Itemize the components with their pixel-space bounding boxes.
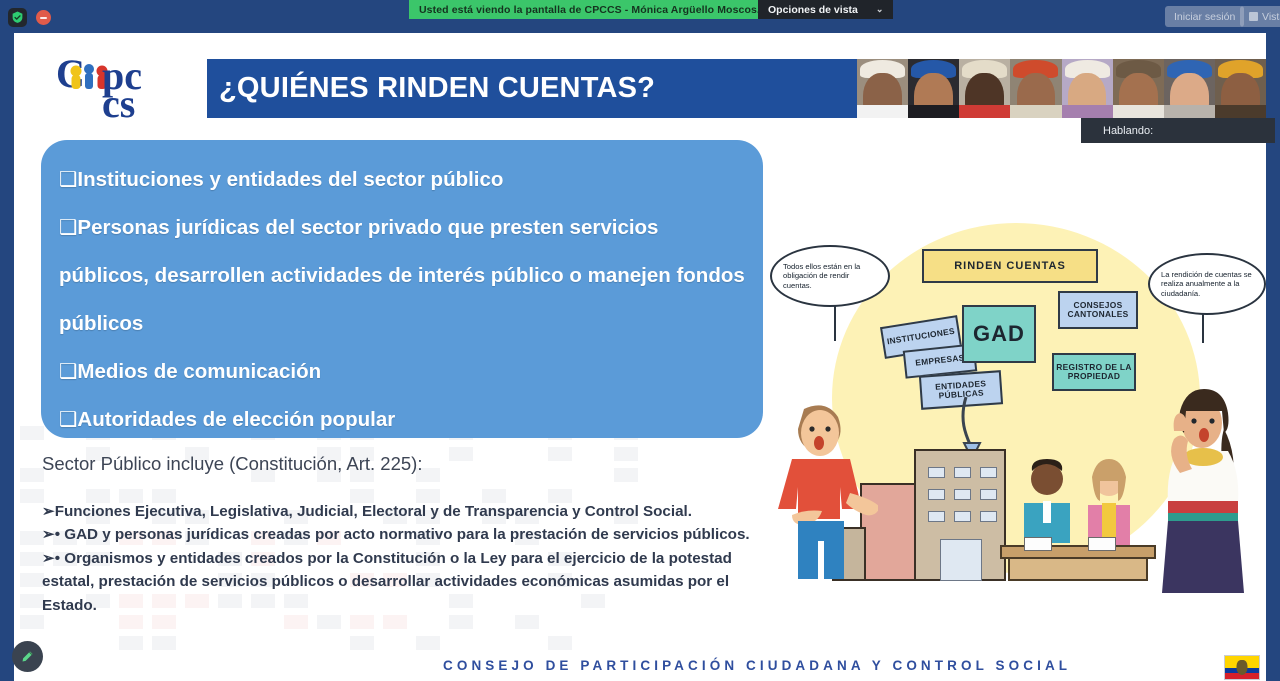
speech-bubble-right-text: La rendición de cuentas se realiza anual… <box>1161 270 1253 299</box>
rinden-cuentas-banner: RINDEN CUENTAS <box>922 249 1098 283</box>
bullet-marker: ❑ <box>59 216 77 239</box>
chevron-down-icon: ⌄ <box>876 4 884 15</box>
callout-bullet-text: Personas jurídicas del sector privado qu… <box>59 216 745 335</box>
person-indigenous-woman <box>1150 389 1260 595</box>
view-button-label: Vista <box>1262 11 1280 23</box>
body-paragraph: ➢• Organismos y entidades creados por la… <box>42 547 754 617</box>
portrait-photo <box>1010 59 1061 118</box>
security-shield-icon[interactable] <box>8 8 27 27</box>
portrait-photo <box>1164 59 1215 118</box>
bullet-marker: ❑ <box>59 168 77 191</box>
speech-bubble-right-tail <box>1202 313 1204 343</box>
card-registro-propiedad: REGISTRO DE LA PROPIEDAD <box>1052 353 1136 391</box>
bullet-marker: ❑ <box>59 408 77 431</box>
ecuador-flag-icon <box>1224 655 1260 680</box>
speech-bubble-left-text: Todos ellos están en la obligación de re… <box>783 262 877 291</box>
svg-text:cs: cs <box>102 81 135 121</box>
body-text-block: ➢Funciones Ejecutiva, Legislativa, Judic… <box>42 500 754 617</box>
callout-bullet-4: ❑Autoridades de elección popular <box>59 396 745 444</box>
callout-box: ❑Instituciones y entidades del sector pú… <box>41 140 763 438</box>
speaking-indicator: Hablando: <box>1081 118 1275 143</box>
callout-bullet-3: ❑Medios de comunicación <box>59 348 745 396</box>
presentation-slide: C pc cs ¿QUIÉNES RINDEN CUENTAS? <box>14 33 1266 681</box>
portrait-photo <box>908 59 959 118</box>
zoom-share-toolbar: Usted está viendo la pantalla de CPCCS -… <box>0 0 1280 20</box>
callout-bullet-2: ❑Personas jurídicas del sector privado q… <box>59 204 745 348</box>
footer-text: CONSEJO DE PARTICIPACIÓN CIUDADANA Y CON… <box>443 658 1071 673</box>
officials-table-leg <box>1008 559 1148 581</box>
card-gad: GAD <box>962 305 1036 363</box>
callout-bullet-text: Instituciones y entidades del sector púb… <box>77 168 503 191</box>
pencil-annotate-icon <box>20 649 35 664</box>
building-window <box>954 489 971 500</box>
speech-bubble-left: Todos ellos están en la obligación de re… <box>770 245 890 307</box>
grid-view-icon <box>1249 12 1258 21</box>
building-window <box>980 489 997 500</box>
accountability-illustration: RINDEN CUENTAS Todos ellos están en la o… <box>762 201 1266 621</box>
portrait-photo <box>857 59 908 118</box>
slide-title-bar: ¿QUIÉNES RINDEN CUENTAS? <box>207 59 857 118</box>
paper-sheet <box>1088 537 1116 551</box>
callout-bullet-text: Medios de comunicación <box>77 360 321 383</box>
card-consejos-cantonales: CONSEJOS CANTONALES <box>1058 291 1138 329</box>
portrait-photo <box>1062 59 1113 118</box>
building-window <box>928 467 945 478</box>
view-options-label: Opciones de vista <box>768 4 858 16</box>
sign-in-button[interactable]: Iniciar sesión <box>1165 6 1244 27</box>
portrait-photo <box>959 59 1010 118</box>
building-window <box>928 511 945 522</box>
screen-root: C pc cs ¿QUIÉNES RINDEN CUENTAS? <box>0 0 1280 681</box>
stop-share-icon[interactable] <box>36 10 51 25</box>
callout-bullet-text: Autoridades de elección popular <box>77 408 395 431</box>
slide-footer: CONSEJO DE PARTICIPACIÓN CIUDADANA Y CON… <box>431 653 1266 681</box>
speech-bubble-right: La rendición de cuentas se realiza anual… <box>1148 253 1266 315</box>
building-window <box>954 511 971 522</box>
person-pointing <box>768 397 878 589</box>
building-window <box>928 489 945 500</box>
building-door <box>940 539 982 581</box>
header-photo-strip <box>857 59 1266 118</box>
body-paragraph: ➢• GAD y personas jurídicas creadas por … <box>42 523 754 546</box>
building-window <box>980 467 997 478</box>
cpccs-logo: C pc cs <box>54 49 194 121</box>
annotate-button[interactable] <box>12 641 43 672</box>
view-button[interactable]: Vista <box>1240 6 1280 27</box>
callout-bullet-1: ❑Instituciones y entidades del sector pú… <box>59 156 745 204</box>
building-window <box>980 511 997 522</box>
view-options-button[interactable]: Opciones de vista ⌄ <box>758 0 893 19</box>
building-window <box>954 467 971 478</box>
screen-share-notice: Usted está viendo la pantalla de CPCCS -… <box>409 0 776 19</box>
paper-sheet <box>1024 537 1052 551</box>
section-subheading: Sector Público incluye (Constitución, Ar… <box>42 453 422 475</box>
body-paragraph: ➢Funciones Ejecutiva, Legislativa, Judic… <box>42 500 754 523</box>
page-title: ¿QUIÉNES RINDEN CUENTAS? <box>219 72 655 105</box>
bullet-marker: ❑ <box>59 360 77 383</box>
portrait-photo <box>1113 59 1164 118</box>
speech-bubble-left-tail <box>834 305 836 341</box>
portrait-photo <box>1215 59 1266 118</box>
